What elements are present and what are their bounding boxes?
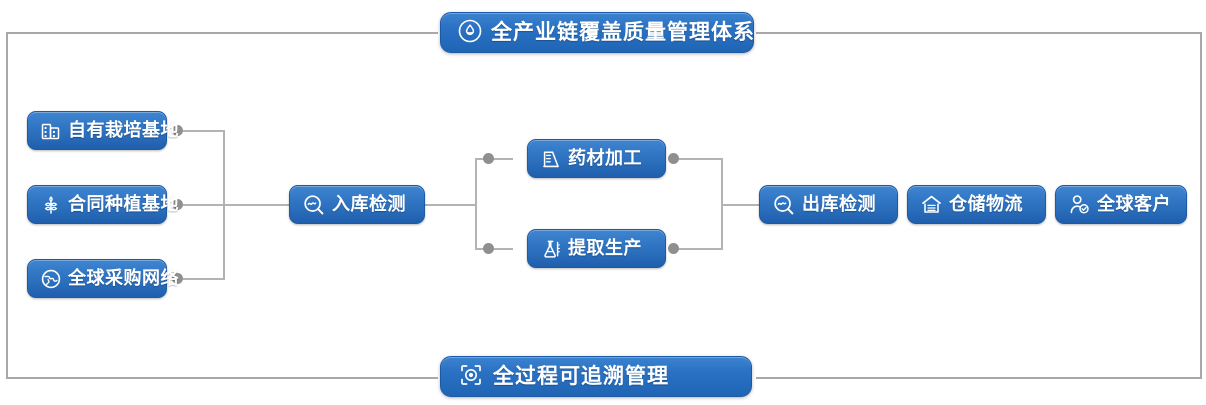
connector-source-bus (223, 130, 225, 280)
banner-traceability-label: 全过程可追溯管理 (493, 366, 669, 387)
magnifier-wave-icon (301, 192, 327, 218)
banner-quality-management-label: 全产业链覆盖质量管理体系 (491, 22, 755, 43)
connector-dot-processing-2 (483, 243, 494, 254)
building-icon (39, 119, 63, 143)
node-extraction-production-label: 提取生产 (568, 240, 642, 258)
node-inbound-inspection[interactable]: 入库检测 (289, 185, 425, 224)
connector-from-processing-2 (678, 248, 723, 250)
connector-inbound-out (425, 204, 477, 206)
node-global-customers-label: 全球客户 (1097, 196, 1171, 214)
node-outbound-inspection[interactable]: 出库检测 (759, 185, 898, 224)
node-global-customers[interactable]: 全球客户 (1055, 185, 1187, 224)
connector-source-1 (183, 130, 225, 132)
connector-dot-processing-1 (483, 153, 494, 164)
magnifier-wave-icon (771, 192, 797, 218)
node-herb-processing-label: 药材加工 (568, 150, 642, 168)
warehouse-icon (919, 192, 944, 217)
node-extraction-production[interactable]: 提取生产 (527, 229, 666, 268)
node-warehouse-logistics-label: 仓储物流 (949, 196, 1023, 214)
node-herb-processing[interactable]: 药材加工 (527, 139, 666, 178)
flask-icon (539, 237, 563, 261)
factory-icon (539, 147, 563, 171)
node-contract-planting-base-label: 合同种植基地 (68, 196, 179, 214)
connector-outbound-in (721, 204, 759, 206)
node-own-cultivation-base-label: 自有栽培基地 (68, 122, 179, 140)
connector-source-2 (183, 204, 289, 206)
node-global-procurement-network-label: 全球采购网络 (68, 270, 179, 288)
connector-split-bus (475, 158, 477, 250)
connector-from-processing-1 (678, 158, 723, 160)
connector-source-3 (183, 278, 225, 280)
connector-to-processing-2 (475, 248, 513, 250)
node-own-cultivation-base[interactable]: 自有栽培基地 (27, 111, 167, 150)
globe-icon (39, 267, 63, 291)
node-warehouse-logistics[interactable]: 仓储物流 (907, 185, 1046, 224)
node-inbound-inspection-label: 入库检测 (332, 196, 406, 214)
shield-drop-circle-icon (457, 18, 483, 48)
connector-to-processing-1 (475, 158, 513, 160)
node-outbound-inspection-label: 出库检测 (802, 196, 876, 214)
banner-quality-management[interactable]: 全产业链覆盖质量管理体系 (440, 12, 754, 53)
banner-traceability[interactable]: 全过程可追溯管理 (440, 356, 752, 397)
sprout-icon (39, 193, 63, 217)
user-check-icon (1067, 192, 1092, 217)
diagram-canvas: 全产业链覆盖质量管理体系 全过程可追溯管理 (0, 0, 1206, 405)
connector-dot-merge-1 (668, 153, 679, 164)
scan-target-icon (457, 361, 485, 393)
node-global-procurement-network[interactable]: 全球采购网络 (27, 259, 167, 298)
node-contract-planting-base[interactable]: 合同种植基地 (27, 185, 167, 224)
connector-dot-merge-2 (668, 243, 679, 254)
